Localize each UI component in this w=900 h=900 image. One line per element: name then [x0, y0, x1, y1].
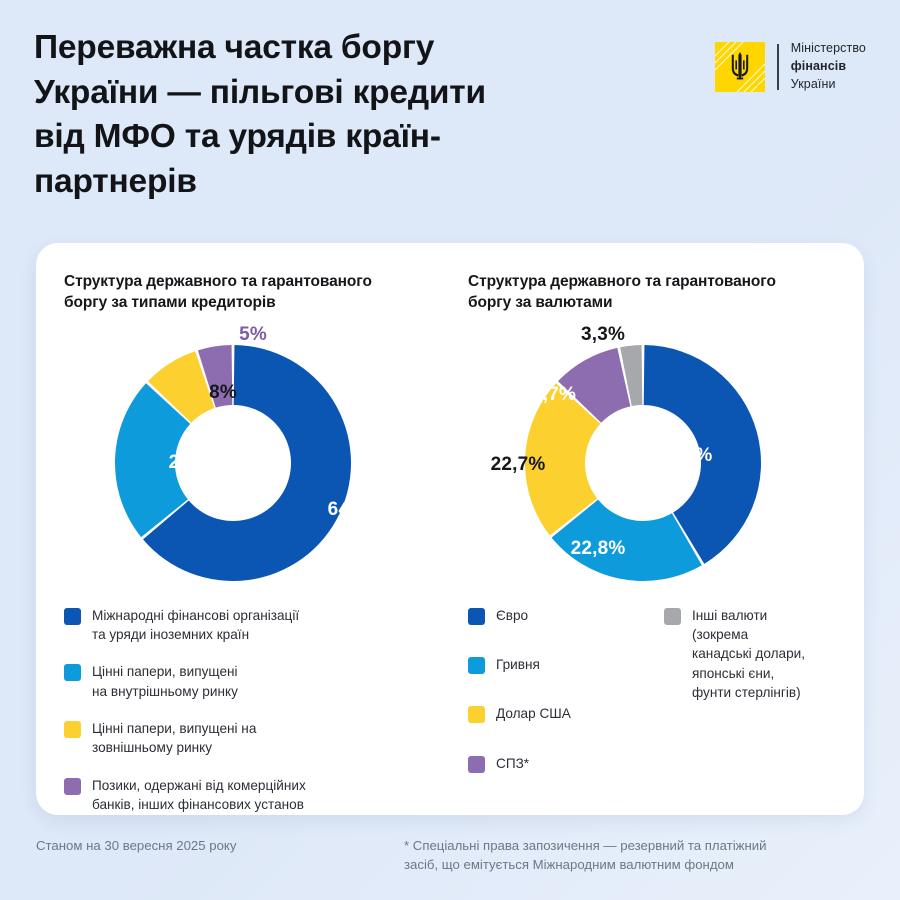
legend-swatch-icon	[468, 657, 485, 674]
logo-line-2: фінансів	[791, 58, 866, 76]
logo-text: Міністерство фінансів України	[791, 40, 866, 93]
legend-creditors: Міжнародні фінансові організації та уряд…	[64, 606, 440, 814]
logo-divider	[777, 44, 779, 90]
donut-chart-currencies: 41,5% 22,8% 22,7% 9,7% 3,3%	[468, 322, 846, 604]
legend-label: Позики, одержані від комерційних банків,…	[92, 776, 306, 815]
donut-value-label: 5%	[239, 324, 267, 346]
legend-label: Інші валюти (зокрема канадські долари, я…	[692, 606, 805, 702]
legend-item[interactable]: Інші валюти (зокрема канадські долари, я…	[664, 606, 846, 702]
legend-label: Цінні папери, випущені на внутрішньому р…	[92, 662, 238, 701]
chart-title-creditors: Структура державного та гарантованого бо…	[64, 271, 440, 314]
legend-item[interactable]: Євро	[468, 606, 650, 625]
legend-item[interactable]: Гривня	[468, 655, 650, 674]
legend-swatch-icon	[64, 664, 81, 681]
chart-panel-currencies: Структура державного та гарантованого бо…	[450, 271, 864, 815]
donut-chart-creditors: 64% 23% 8% 5%	[64, 322, 440, 604]
legend-label: СПЗ*	[496, 754, 529, 773]
donut-value-label: 23%	[169, 452, 208, 474]
legend-item[interactable]: Долар США	[468, 704, 650, 723]
logo-line-1: Міністерство	[791, 40, 866, 58]
legend-currencies: Євро Гривня Долар США СПЗ*	[468, 606, 846, 791]
legend-label: Міжнародні фінансові організації та уряд…	[92, 606, 299, 645]
legend-column-primary: Євро Гривня Долар США СПЗ*	[468, 606, 650, 791]
legend-item[interactable]: Міжнародні фінансові організації та уряд…	[64, 606, 440, 645]
ukraine-trident-icon	[715, 42, 765, 92]
legend-item[interactable]: Позики, одержані від комерційних банків,…	[64, 776, 440, 815]
legend-label: Євро	[496, 606, 528, 625]
legend-label: Цінні папери, випущені на зовнішньому ри…	[92, 719, 256, 758]
legend-label: Гривня	[496, 655, 540, 674]
legend-item[interactable]: Цінні папери, випущені на внутрішньому р…	[64, 662, 440, 701]
donut-value-label: 9,7%	[532, 384, 576, 406]
donut-value-label: 64%	[328, 499, 367, 521]
donut-value-label: 22,8%	[571, 538, 626, 560]
legend-label: Долар США	[496, 704, 571, 723]
legend-swatch-icon	[64, 778, 81, 795]
page-title: Переважна частка боргу України — пільгов…	[34, 26, 486, 204]
legend-swatch-icon	[664, 608, 681, 625]
donut-value-label: 8%	[209, 382, 237, 404]
logo-line-3: України	[791, 76, 866, 94]
legend-item[interactable]: Цінні папери, випущені на зовнішньому ри…	[64, 719, 440, 758]
footnote-sdr: * Спеціальні права запозичення — резервн…	[404, 836, 864, 874]
charts-card: Структура державного та гарантованого бо…	[36, 243, 864, 815]
legend-swatch-icon	[468, 756, 485, 773]
donut-value-label: 41,5%	[658, 445, 713, 467]
page-footer: Станом на 30 вересня 2025 року * Спеціал…	[36, 836, 864, 874]
as-of-date: Станом на 30 вересня 2025 року	[36, 836, 404, 874]
page-header: Переважна частка боргу України — пільгов…	[0, 0, 900, 204]
ministry-logo: Міністерство фінансів України	[715, 40, 866, 93]
legend-swatch-icon	[468, 706, 485, 723]
chart-title-currencies: Структура державного та гарантованого бо…	[468, 271, 846, 314]
legend-swatch-icon	[468, 608, 485, 625]
legend-swatch-icon	[64, 721, 81, 738]
legend-swatch-icon	[64, 608, 81, 625]
donut-value-label: 3,3%	[581, 324, 625, 346]
donut-value-label: 22,7%	[491, 454, 546, 476]
chart-panel-creditors: Структура державного та гарантованого бо…	[36, 271, 450, 815]
legend-item[interactable]: СПЗ*	[468, 754, 650, 773]
legend-column-secondary: Інші валюти (зокрема канадські долари, я…	[664, 606, 846, 791]
